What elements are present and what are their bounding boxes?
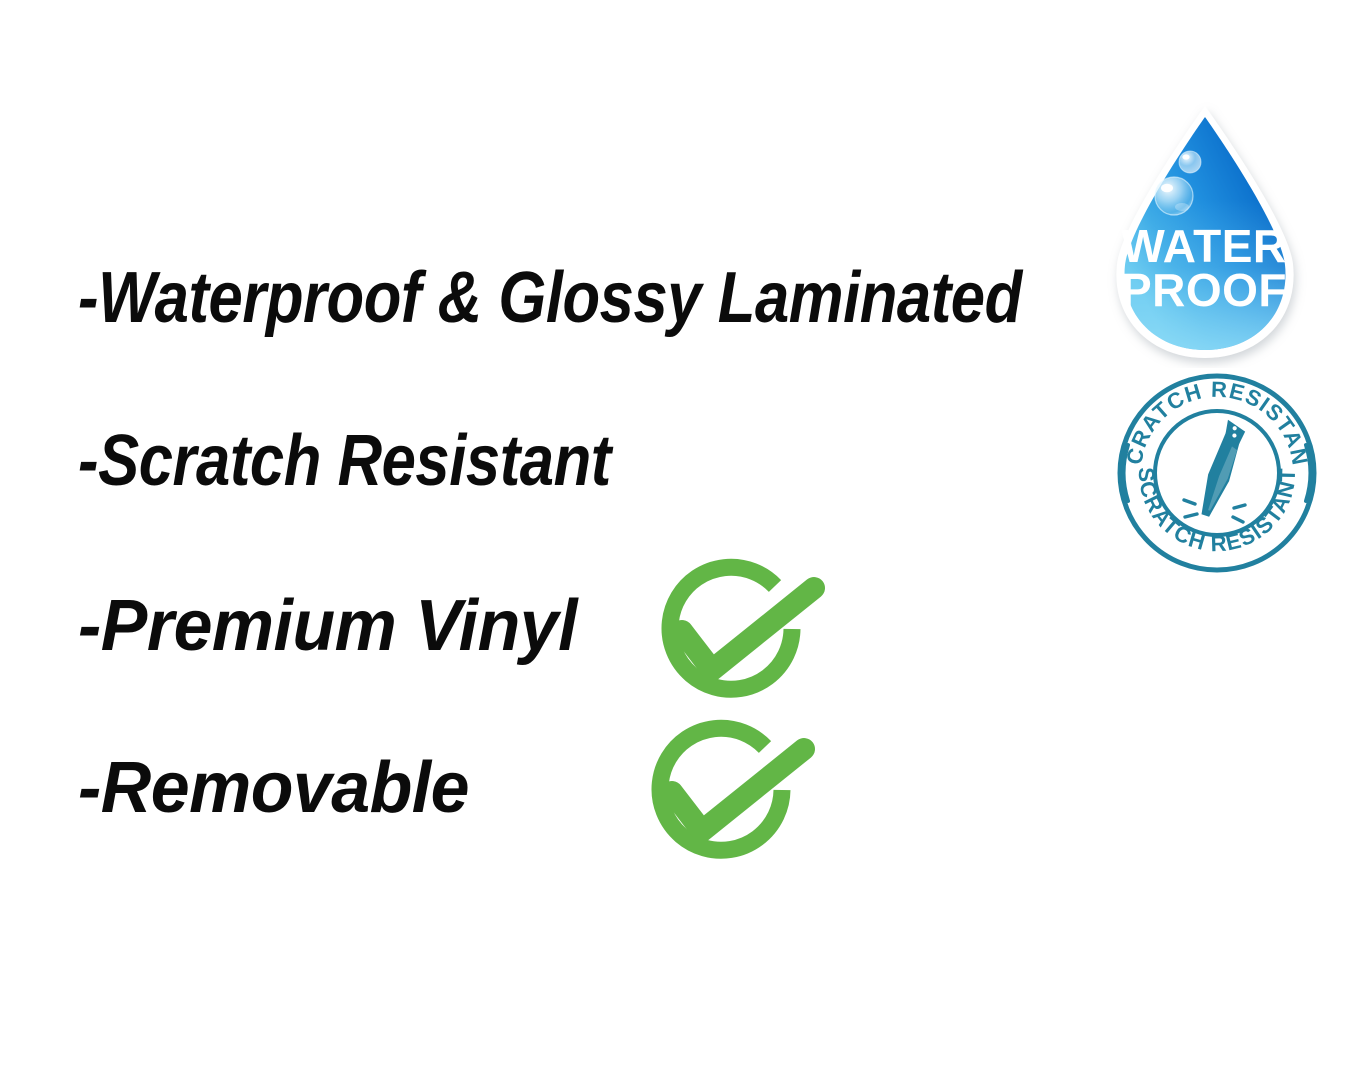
product-feature-graphic: -Waterproof & Glossy Laminated -Scratch … [0,0,1359,1080]
scratch-resistant-badge: SCRATCH RESISTANT SCRATCH RESISTANT [1112,372,1322,574]
feature-list: -Waterproof & Glossy Laminated -Scratch … [0,0,1100,1080]
waterproof-line2: PROOF [1121,264,1287,316]
knife-icon [1196,419,1247,519]
feature-item-premium-vinyl: -Premium Vinyl [78,590,577,662]
checkmark-premium-vinyl [640,557,840,717]
check-circle-icon [660,728,804,850]
feature-item-waterproof-glossy-laminated: -Waterproof & Glossy Laminated [78,262,1022,334]
waterproof-badge: WATER PROOF [1098,100,1322,368]
feature-item-scratch-resistant: -Scratch Resistant [78,425,611,497]
feature-item-removable: -Removable [78,752,469,824]
water-bubble-small-icon [1179,151,1201,173]
stamp-top-text: SCRATCH RESISTANT [1112,372,1313,468]
checkmark-removable [630,718,830,878]
water-bubble-large-icon [1155,177,1193,215]
check-circle-icon [670,567,814,689]
